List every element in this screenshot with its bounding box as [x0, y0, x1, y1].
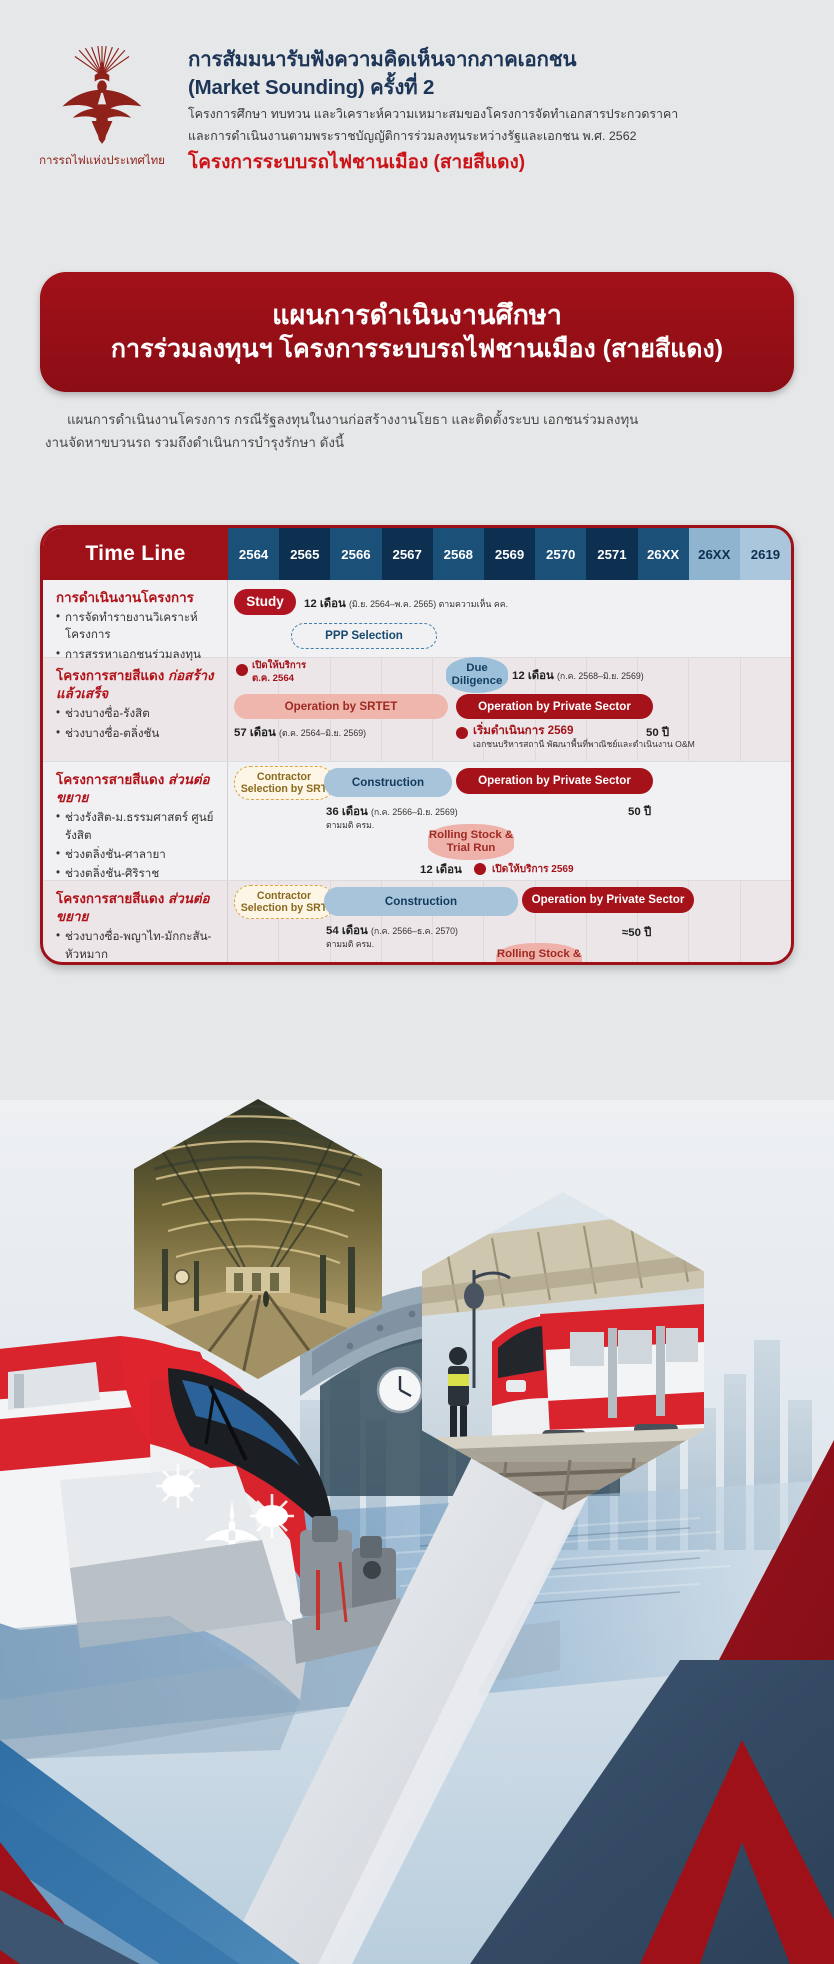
banner-line2: การร่วมลงทุนฯ โครงการระบบรถไฟชานเมือง (ส…	[111, 334, 723, 365]
note-srtet-duration: 57 เดือน (ต.ค. 2564–มิ.ย. 2569)	[234, 724, 366, 742]
row-heading-text: โครงการสายสีแดง	[56, 772, 164, 787]
bar-due-diligence[interactable]: Due Diligence	[446, 657, 508, 693]
table-row: การดำเนินงานโครงการ การจัดทำรายงานวิเครา…	[43, 580, 791, 658]
note-trial-duration: 12 เดือน	[420, 861, 462, 879]
emu-train	[492, 1304, 704, 1446]
timeline-card: Time Line 256425652566256725682569257025…	[40, 525, 794, 965]
header-title-line1: การสัมมนารับฟังความคิดเห็นจากภาคเอกชน	[188, 46, 678, 74]
note-main: 12 เดือน	[420, 864, 462, 876]
bar-operation-private-sector[interactable]: Operation by Private Sector	[522, 887, 694, 913]
table-row: โครงการสายสีแดง ก่อสร้างแล้วเสร็จ ช่วงบา…	[43, 658, 791, 762]
note-concession-50-years: 50 ปี	[646, 724, 669, 742]
row-heading: โครงการสายสีแดง ส่วนต่อขยาย	[56, 890, 221, 926]
bar-study[interactable]: Study	[234, 589, 296, 615]
bar-rolling-stock-trial-run[interactable]: Rolling Stock & Trial Run	[496, 943, 582, 965]
note-due-diligence-duration: 12 เดือน (ก.ค. 2568–มิ.ย. 2569)	[512, 667, 644, 685]
intro-paragraph: แผนการดำเนินงานโครงการ กรณีรัฐลงทุนในงาน…	[45, 408, 789, 454]
bar-contractor-selection[interactable]: Contractor Selection by SRT	[234, 766, 334, 800]
row-heading-text: โครงการสายสีแดง	[56, 668, 164, 683]
timeline-year-columns: 2564256525662567256825692570257126XX26XX…	[228, 528, 791, 580]
bar-construction[interactable]: Construction	[324, 768, 452, 797]
row-track-4: Contractor Selection by SRT Construction…	[228, 881, 791, 965]
note-concession-50-years: 50 ปี	[628, 803, 651, 821]
note-detail: (ก.ค. 2568–มิ.ย. 2569)	[557, 671, 644, 681]
bar-rolling-stock-trial-run[interactable]: Rolling Stock & Trial Run	[428, 824, 514, 860]
timeline-title: Time Line	[43, 528, 228, 580]
srt-garuda-emblem-icon	[50, 44, 154, 148]
note-main: เปิดให้บริการ	[252, 660, 306, 673]
row-heading-text: โครงการสายสีแดง	[56, 891, 164, 906]
year-column-2569-5: 2569	[484, 528, 535, 580]
note-main: 50 ปี	[646, 727, 669, 739]
table-row: โครงการสายสีแดง ส่วนต่อขยาย ช่วงบางซื่อ-…	[43, 881, 791, 965]
timeline-body: การดำเนินงานโครงการ การจัดทำรายงานวิเครา…	[43, 580, 791, 965]
row-item: การจัดทำรายงานวิเคราะห์โครงการ	[56, 609, 221, 644]
note-cabinet-resolution: ตามมติ ครม.	[326, 937, 374, 951]
page-header: การรถไฟแห่งประเทศไทย การสัมมนารับฟังความ…	[0, 0, 834, 205]
srt-logo-caption: การรถไฟแห่งประเทศไทย	[39, 152, 165, 170]
milestone-dot-open-2569	[474, 863, 486, 875]
header-subtitle-line2: และการดำเนินงานตามพระราชบัญญัติการร่วมลง…	[188, 127, 678, 146]
year-column-26XX-8: 26XX	[638, 528, 689, 580]
row-heading: การดำเนินงานโครงการ	[56, 589, 221, 607]
row-label-1: การดำเนินงานโครงการ การจัดทำรายงานวิเครา…	[43, 580, 228, 657]
table-row: โครงการสายสีแดง ส่วนต่อขยาย ช่วงรังสิต-ม…	[43, 762, 791, 881]
note-detail: ต.ค. 2564	[252, 673, 306, 686]
note-main: 12 เดือน	[304, 598, 346, 610]
row-item: ช่วงบางซื่อ-ตลิ่งชัน	[56, 725, 221, 742]
row-item: ช่วงบางซื่อ-พญาไท-มักกะสัน-หัวหมาก	[56, 928, 221, 963]
intro-line1: แผนการดำเนินงานโครงการ กรณีรัฐลงทุนในงาน…	[45, 408, 789, 431]
row-track-1: Study 12 เดือน (มิ.ย. 2564–พ.ค. 2565) ตา…	[228, 580, 791, 657]
footer-artwork	[0, 1100, 834, 1964]
note-main: 36 เดือน	[326, 806, 368, 818]
year-column-2565-1: 2565	[279, 528, 330, 580]
train-cityscape-graphic	[0, 1100, 834, 1964]
note-detail: (ต.ค. 2564–มิ.ย. 2569)	[279, 728, 366, 738]
milestone-dot-start-2569	[456, 727, 468, 739]
year-column-2619-10: 2619	[740, 528, 791, 580]
note-concession-50-years: ≈50 ปี	[622, 924, 651, 942]
milestone-dot-open-2564	[236, 664, 248, 676]
note-main: 50 ปี	[628, 806, 651, 818]
note-open-service-2564: เปิดให้บริการ ต.ค. 2564	[252, 660, 306, 686]
bar-operation-srtet[interactable]: Operation by SRTET	[234, 694, 448, 719]
note-detail: (ก.ค. 2566–มิ.ย. 2569)	[371, 807, 458, 817]
note-main: 57 เดือน	[234, 727, 276, 739]
header-title-line2: (Market Sounding) ครั้งที่ 2	[188, 74, 678, 102]
note-cabinet-resolution: ตามมติ ครม.	[326, 818, 374, 832]
main-banner: แผนการดำเนินงานศึกษา การร่วมลงทุนฯ โครงก…	[40, 272, 794, 392]
row-track-2: เปิดให้บริการ ต.ค. 2564 Due Diligence 12…	[228, 658, 791, 761]
year-column-2571-7: 2571	[586, 528, 637, 580]
bar-construction[interactable]: Construction	[324, 887, 518, 916]
note-main: 54 เดือน	[326, 925, 368, 937]
srt-logo: การรถไฟแห่งประเทศไทย	[22, 44, 182, 170]
bar-contractor-selection[interactable]: Contractor Selection by SRT	[234, 885, 334, 919]
note-main: ≈50 ปี	[622, 927, 651, 939]
header-text-block: การสัมมนารับฟังความคิดเห็นจากภาคเอกชน (M…	[188, 30, 678, 175]
row-label-2: โครงการสายสีแดง ก่อสร้างแล้วเสร็จ ช่วงบา…	[43, 658, 228, 761]
note-main: 12 เดือน	[512, 670, 554, 682]
year-column-2568-4: 2568	[433, 528, 484, 580]
note-open-service-2569: เปิดให้บริการ 2569	[492, 862, 574, 877]
row-item: ช่วงตลิ่งชัน-ศาลายา	[56, 846, 221, 863]
header-project-title: โครงการระบบรถไฟชานเมือง (สายสีแดง)	[188, 151, 678, 176]
header-subtitle-line1: โครงการศึกษา ทบทวน และวิเคราะห์ความเหมาะ…	[188, 105, 678, 124]
bar-operation-private-sector[interactable]: Operation by Private Sector	[456, 694, 653, 719]
note-detail: (ก.ค. 2566–ธ.ค. 2570)	[371, 926, 458, 936]
row-heading: โครงการสายสีแดง ก่อสร้างแล้วเสร็จ	[56, 667, 221, 703]
year-column-2570-6: 2570	[535, 528, 586, 580]
year-column-26XX-9: 26XX	[689, 528, 740, 580]
year-column-2566-2: 2566	[330, 528, 381, 580]
note-study-duration: 12 เดือน (มิ.ย. 2564–พ.ค. 2565) ตามความเ…	[304, 595, 508, 613]
row-item: ช่วงบางซื่อ-รังสิต	[56, 705, 221, 722]
bar-operation-private-sector[interactable]: Operation by Private Sector	[456, 768, 653, 794]
row-item: ช่วงรังสิต-ม.ธรรมศาสตร์ ศูนย์รังสิต	[56, 809, 221, 844]
banner-line1: แผนการดำเนินงานศึกษา	[272, 299, 562, 333]
year-column-2564-0: 2564	[228, 528, 279, 580]
bar-ppp-selection[interactable]: PPP Selection	[291, 623, 437, 649]
intro-line2: งานจัดหาขบวนรถ รวมถึงดำเนินการบำรุงรักษา…	[45, 431, 789, 454]
year-column-2567-3: 2567	[382, 528, 433, 580]
row-track-3: Contractor Selection by SRT Construction…	[228, 762, 791, 880]
timeline-header: Time Line 256425652566256725682569257025…	[43, 528, 791, 580]
note-detail: (มิ.ย. 2564–พ.ค. 2565) ตามความเห็น คค.	[349, 599, 508, 609]
row-label-4: โครงการสายสีแดง ส่วนต่อขยาย ช่วงบางซื่อ-…	[43, 881, 228, 965]
platform-clock-icon	[175, 1270, 189, 1284]
row-label-3: โครงการสายสีแดง ส่วนต่อขยาย ช่วงรังสิต-ม…	[43, 762, 228, 880]
row-heading: โครงการสายสีแดง ส่วนต่อขยาย	[56, 771, 221, 807]
